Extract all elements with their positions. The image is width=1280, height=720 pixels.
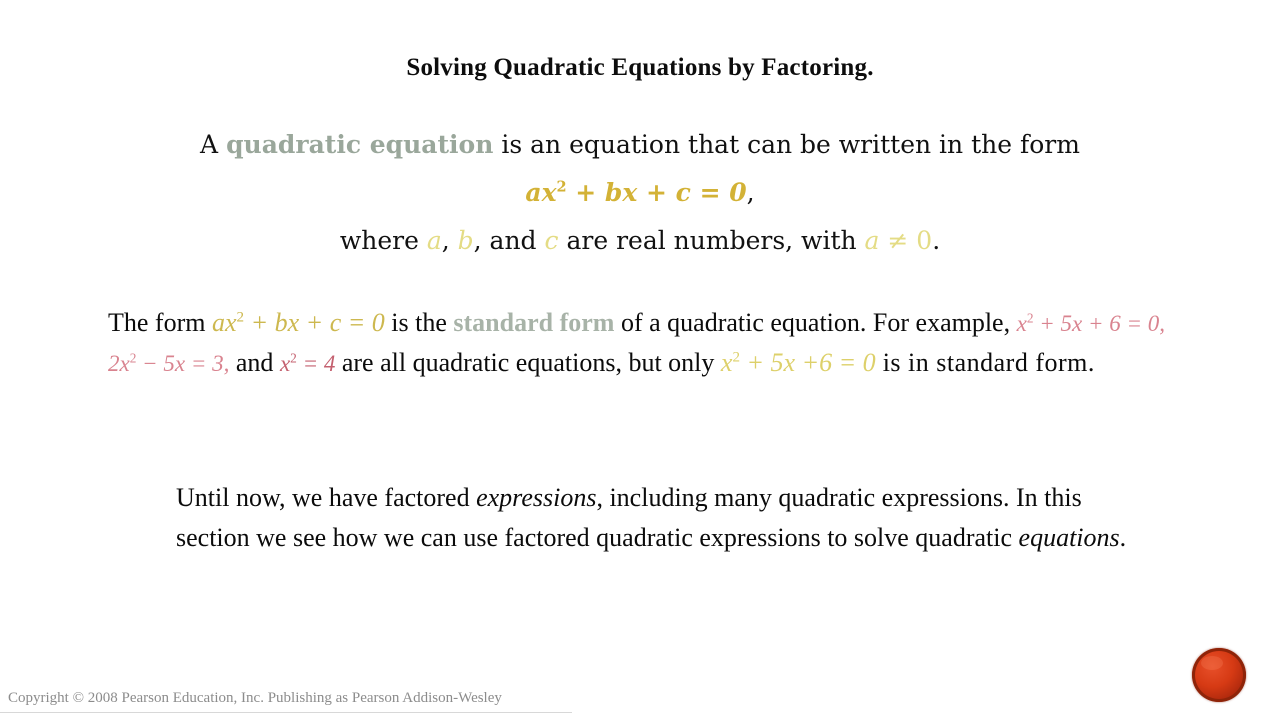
example2-rest: − 5x = 3, (136, 351, 229, 376)
real-numbers-text: are real numbers, with (559, 226, 865, 255)
page-title: Solving Quadratic Equations by Factoring… (0, 54, 1280, 82)
until-s3: . (1120, 523, 1127, 552)
example1-rest: + 5x + 6 = 0, (1033, 311, 1165, 336)
para-form-s4: and (229, 348, 280, 377)
definition-line-2-formula: ax2 + bx + c = 0, (0, 170, 1280, 216)
variable-a: a (427, 226, 442, 255)
example1-a: x (1017, 311, 1027, 336)
formula-standard-form: ax2 + bx + c = 0 (525, 178, 746, 207)
standard-form-example: x2 + 5x +6 = 0 (721, 348, 876, 377)
std-exponent: 2 (732, 349, 740, 365)
emphasis-expressions: expressions (476, 483, 596, 512)
slide-canvas: Solving Quadratic Equations by Factoring… (0, 0, 1280, 720)
definition-block: A quadratic equation is an equation that… (0, 122, 1280, 264)
example3-rest: = 4 (297, 351, 336, 376)
until-s1: Until now, we have factored (176, 483, 476, 512)
where-text: where (340, 226, 427, 255)
variable-c: c (545, 226, 559, 255)
formula-rest: + bx + c = 0 (567, 178, 747, 207)
para-form-s1: The form (108, 308, 212, 337)
para-form-s3: of a quadratic equation. For example, (614, 308, 1016, 337)
example3-exponent: 2 (290, 350, 297, 365)
definition-line-1: A quadratic equation is an equation that… (0, 122, 1280, 168)
para-form-s5: are all quadratic equations, but only (335, 348, 721, 377)
pearson-logo-icon (1192, 648, 1246, 702)
inline-eq-rest: + bx + c = 0 (244, 308, 385, 337)
std-a: x (721, 348, 733, 377)
example-equation-3: x2 = 4 (280, 351, 335, 376)
formula-exponent: 2 (556, 179, 566, 196)
para-form-s6: is in standard form. (876, 348, 1095, 377)
definition-line1-post: is an equation that can be written in th… (493, 130, 1080, 159)
definition-period: . (932, 226, 940, 255)
definition-line1-pre: A (200, 130, 226, 159)
para-form-s2: is the (385, 308, 454, 337)
inline-eq-exponent: 2 (237, 309, 245, 325)
footer-divider (0, 712, 572, 713)
keyword-standard-form: standard form (453, 308, 614, 337)
sep-2: , and (474, 226, 545, 255)
inline-equation-standard: ax2 + bx + c = 0 (212, 308, 385, 337)
variable-b: b (458, 226, 474, 255)
example3-a: x (280, 351, 290, 376)
formula-trailing-comma: , (747, 178, 755, 207)
not-equal-zero: ≠ 0 (879, 226, 932, 255)
inline-eq-a: ax (212, 308, 237, 337)
copyright-notice: Copyright © 2008 Pearson Education, Inc.… (8, 690, 502, 707)
example-equation-2: 2x2 − 5x = 3, (108, 351, 229, 376)
sep-1: , (442, 226, 458, 255)
formula-ax: ax (525, 178, 556, 207)
definition-line-3: where a, b, and c are real numbers, with… (0, 218, 1280, 264)
paragraph-until-now: Until now, we have factored expressions,… (176, 478, 1136, 558)
example2-a: 2x (108, 351, 130, 376)
std-rest: + 5x +6 = 0 (740, 348, 876, 377)
emphasis-equations: equations (1019, 523, 1120, 552)
example-equation-1: x2 + 5x + 6 = 0, (1017, 311, 1165, 336)
variable-a-2: a (865, 226, 880, 255)
paragraph-standard-form: The form ax2 + bx + c = 0 is the standar… (108, 303, 1198, 383)
keyword-quadratic-equation: quadratic equation (226, 130, 493, 159)
